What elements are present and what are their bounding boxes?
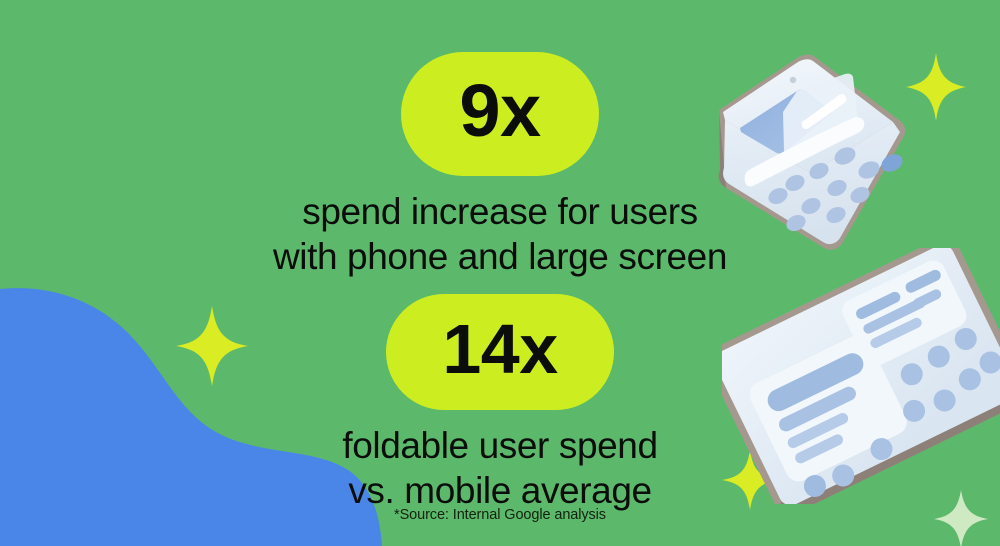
stat-caption-1-line-2: with phone and large screen	[0, 235, 1000, 280]
slide-canvas: 9x spend increase for users with phone a…	[0, 0, 1000, 546]
stat-caption-1-line-1: spend increase for users	[0, 190, 1000, 235]
stat-caption-2-line-1: foldable user spend	[0, 424, 1000, 469]
stat-caption-1: spend increase for users with phone and …	[0, 190, 1000, 280]
stat-block-1: 9x spend increase for users with phone a…	[0, 52, 1000, 280]
stat-badge-14x: 14x	[386, 294, 613, 410]
stat-block-2: 14x foldable user spend vs. mobile avera…	[0, 294, 1000, 514]
content-column: 9x spend increase for users with phone a…	[0, 0, 1000, 546]
source-footnote: *Source: Internal Google analysis	[0, 507, 1000, 523]
stat-caption-2: foldable user spend vs. mobile average	[0, 424, 1000, 514]
stat-badge-9x: 9x	[401, 52, 598, 176]
